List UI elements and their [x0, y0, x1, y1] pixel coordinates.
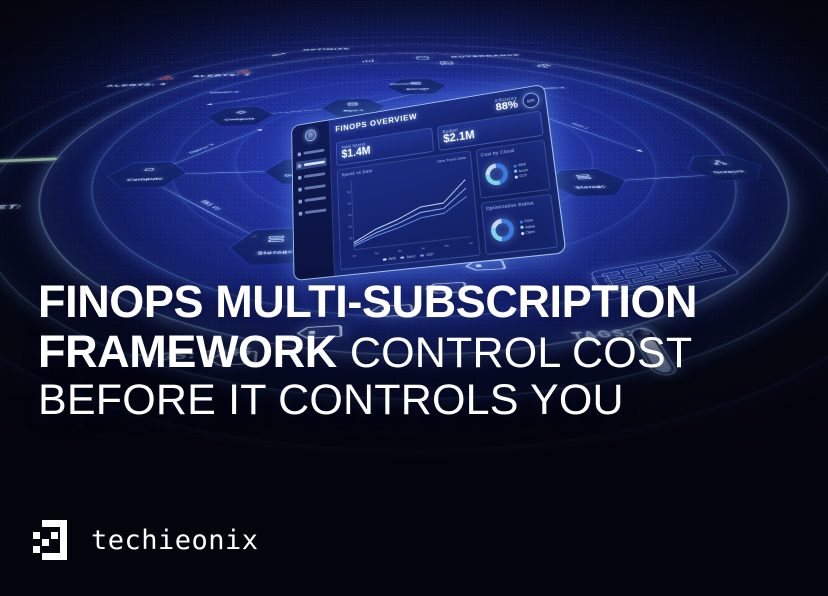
cost-by-cloud-panel: Cost by Cloud AWSAzureGCP — [475, 139, 551, 199]
graph-link — [240, 107, 352, 116]
graph-node-compute[interactable]: Compute — [203, 105, 275, 127]
sidebar-item-accounts[interactable] — [296, 169, 327, 182]
svg-text:400: 400 — [348, 202, 352, 206]
finops-dashboard-screen: FINOPS OVERVIEW Efficiency 88% KPI Total… — [291, 84, 566, 281]
svg-text:100: 100 — [349, 237, 353, 241]
calendar-icon — [414, 56, 431, 61]
graph-node-compute-2[interactable]: Compute — [99, 160, 192, 191]
spend-trend-chart-panel: Spend vs Date View Trend Data 1002003004… — [337, 150, 480, 270]
svg-text:Jun: Jun — [469, 241, 474, 245]
dashboard-title: FINOPS OVERVIEW — [335, 111, 417, 133]
efficiency-value: 88% — [495, 100, 518, 114]
graph-link: Cluster-X — [147, 129, 262, 175]
sidebar-item-dashboard[interactable] — [296, 157, 327, 170]
chart-bars-icon — [360, 58, 376, 63]
sidebar-item-overview[interactable] — [296, 146, 327, 159]
warning-triangle-icon-2 — [236, 69, 253, 74]
headline-line-1: FINOPS MULTI-SUBSCRIPTION — [38, 278, 798, 326]
brand-name: techieonix — [91, 525, 259, 556]
chart-plot-area: 100200300400500JanFebMarAprMayJun — [342, 160, 475, 261]
svg-text:Mar: Mar — [398, 249, 402, 253]
storage-icon — [265, 235, 288, 244]
headline-block: FINOPS MULTI-SUBSCRIPTION FRAMEWORK CONT… — [38, 278, 798, 426]
graph-link: EBS-Vol — [154, 183, 258, 238]
headline-line-3: BEFORE IT CONTROLS YOU — [38, 378, 798, 424]
warning-triangle-icon — [157, 75, 176, 80]
svg-text:500: 500 — [347, 190, 351, 194]
image-doc-icon — [438, 61, 455, 66]
network-icon — [707, 160, 731, 166]
svg-text:May: May — [445, 243, 450, 247]
graph-link — [587, 173, 736, 182]
optimization-status-donut — [487, 215, 517, 245]
cpu-icon — [138, 166, 160, 173]
database-icon — [345, 102, 361, 107]
budget-progress-bar — [0, 157, 58, 163]
brand-logo[interactable]: techieonix — [33, 520, 259, 560]
scales-balance-icon — [535, 63, 554, 68]
kpi-badge: KPI — [522, 91, 540, 109]
hero-banner: TAGS: 1245 BUDGET: ALERTS: 3 ALERTS: 3 O… — [0, 0, 828, 596]
graph-link — [207, 93, 288, 105]
trending-up-icon — [271, 52, 286, 56]
svg-text:200: 200 — [348, 225, 352, 229]
pixel-blocks-logo-icon — [33, 520, 77, 560]
storage-icon — [408, 81, 424, 85]
graph-node-network-right[interactable]: Network — [674, 153, 777, 182]
dashboard-sidebar — [292, 120, 335, 280]
graph-node-storage-top[interactable]: Storage — [384, 77, 450, 95]
svg-text:300: 300 — [348, 213, 352, 217]
app-logo-icon — [305, 129, 316, 142]
svg-text:Apr: Apr — [421, 246, 425, 250]
storage-icon — [572, 174, 595, 181]
sidebar-item-settings[interactable] — [297, 205, 328, 218]
sidebar-item-reports[interactable] — [297, 193, 328, 206]
svg-text:Jan: Jan — [353, 254, 357, 258]
cpu-icon — [232, 110, 249, 115]
optimization-status-panel: Optimization Status DoneActiveOpen — [480, 194, 558, 255]
cost-by-cloud-donut — [482, 160, 511, 189]
headline-line-2-light: CONTROL COST — [350, 331, 692, 377]
sidebar-item-optimization[interactable] — [296, 181, 327, 194]
svg-text:Feb: Feb — [375, 251, 379, 255]
graph-link — [147, 170, 306, 175]
headline-line-2-bold: FRAMEWORK — [38, 328, 337, 376]
